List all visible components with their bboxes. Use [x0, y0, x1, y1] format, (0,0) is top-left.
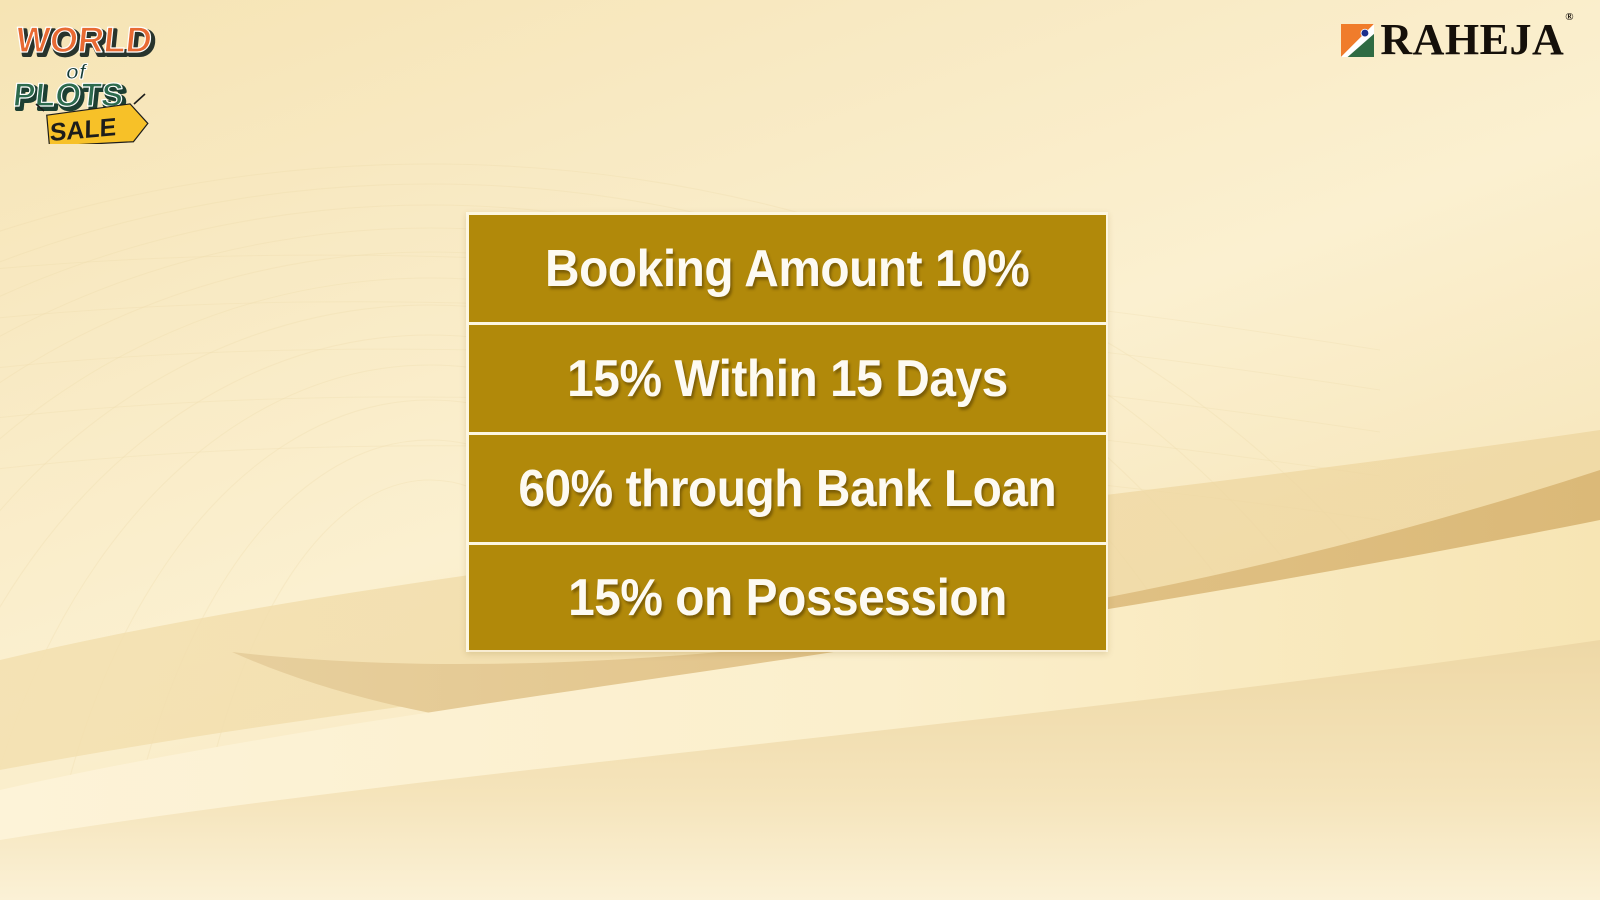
payment-plan-row-3: 60% through Bank Loan	[469, 432, 1106, 542]
raheja-word-text: RAHEJA	[1380, 15, 1564, 64]
payment-plan-panel: Booking Amount 10% 15% Within 15 Days 60…	[466, 212, 1108, 652]
payment-plan-row-label: 15% on Possession	[568, 572, 1007, 624]
raheja-trademark-symbol: ®	[1565, 11, 1574, 23]
raheja-logo[interactable]: RAHEJA®	[1341, 18, 1574, 62]
svg-text:SALE: SALE	[50, 113, 117, 144]
payment-plan-row-label: 15% Within 15 Days	[567, 353, 1008, 405]
payment-plan-row-label: Booking Amount 10%	[545, 243, 1029, 295]
slide-canvas: .wd{ font-family:"Liberation Sans", sans…	[0, 0, 1600, 900]
payment-plan-row-2: 15% Within 15 Days	[469, 322, 1106, 432]
svg-text:WORLD: WORLD	[14, 19, 154, 60]
payment-plan-row-4: 15% on Possession	[469, 542, 1106, 652]
payment-plan-row-1: Booking Amount 10%	[469, 212, 1106, 322]
indian-flag-icon	[1341, 24, 1374, 57]
logo-word-world: WORLD WORLD	[14, 19, 157, 63]
world-of-plots-sale-logo[interactable]: .wd{ font-family:"Liberation Sans", sans…	[14, 12, 166, 144]
raheja-wordmark: RAHEJA®	[1380, 18, 1574, 62]
payment-plan-row-label: 60% through Bank Loan	[519, 463, 1057, 515]
